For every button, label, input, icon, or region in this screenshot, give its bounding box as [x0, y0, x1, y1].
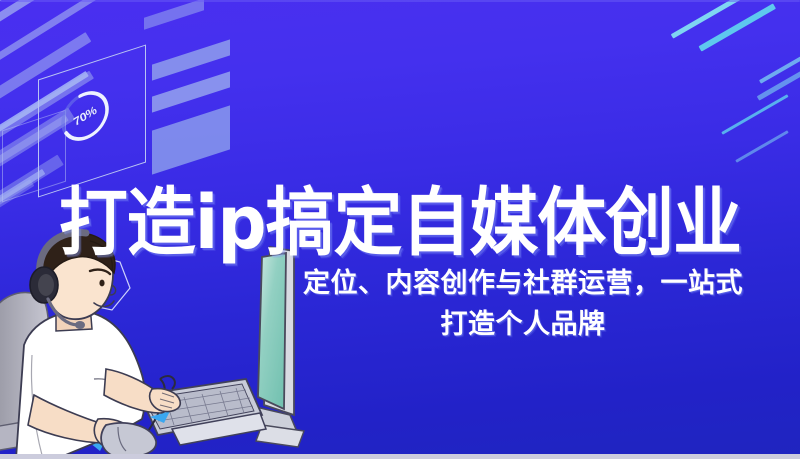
diagonal-stripe-icon: [721, 94, 788, 135]
diagonal-stripe-icon: [0, 0, 150, 18]
iso-card-shape: [144, 0, 204, 30]
iso-card-shape: [152, 39, 230, 80]
diagonal-stripe-icon: [671, 0, 757, 39]
banner-subtitle-line-2: 打造个人品牌: [268, 305, 778, 346]
bottom-edge-strip: [0, 454, 800, 459]
diagonal-stripe-icon: [0, 0, 113, 51]
diagonal-stripe-icon: [699, 3, 776, 51]
banner-title: 打造ip搞定自媒体创业: [28, 186, 772, 260]
diagonal-stripe-icon: [0, 0, 800, 2]
diagonal-stripe-icon: [757, 67, 800, 100]
computer-mouse-icon: [101, 423, 156, 457]
diagonal-stripe-icon: [759, 45, 800, 83]
course-promo-banner: 70%: [0, 0, 800, 459]
banner-subtitle: 定位、内容创作与社群运营，一站式 打造个人品牌: [268, 264, 778, 345]
banner-subtitle-line-1: 定位、内容创作与社群运营，一站式: [268, 264, 778, 305]
progress-ring-badge: 70%: [56, 78, 115, 153]
diagonal-stripe-icon: [735, 130, 788, 163]
iso-card-shape: [152, 105, 230, 174]
iso-card-shape: [152, 71, 230, 112]
